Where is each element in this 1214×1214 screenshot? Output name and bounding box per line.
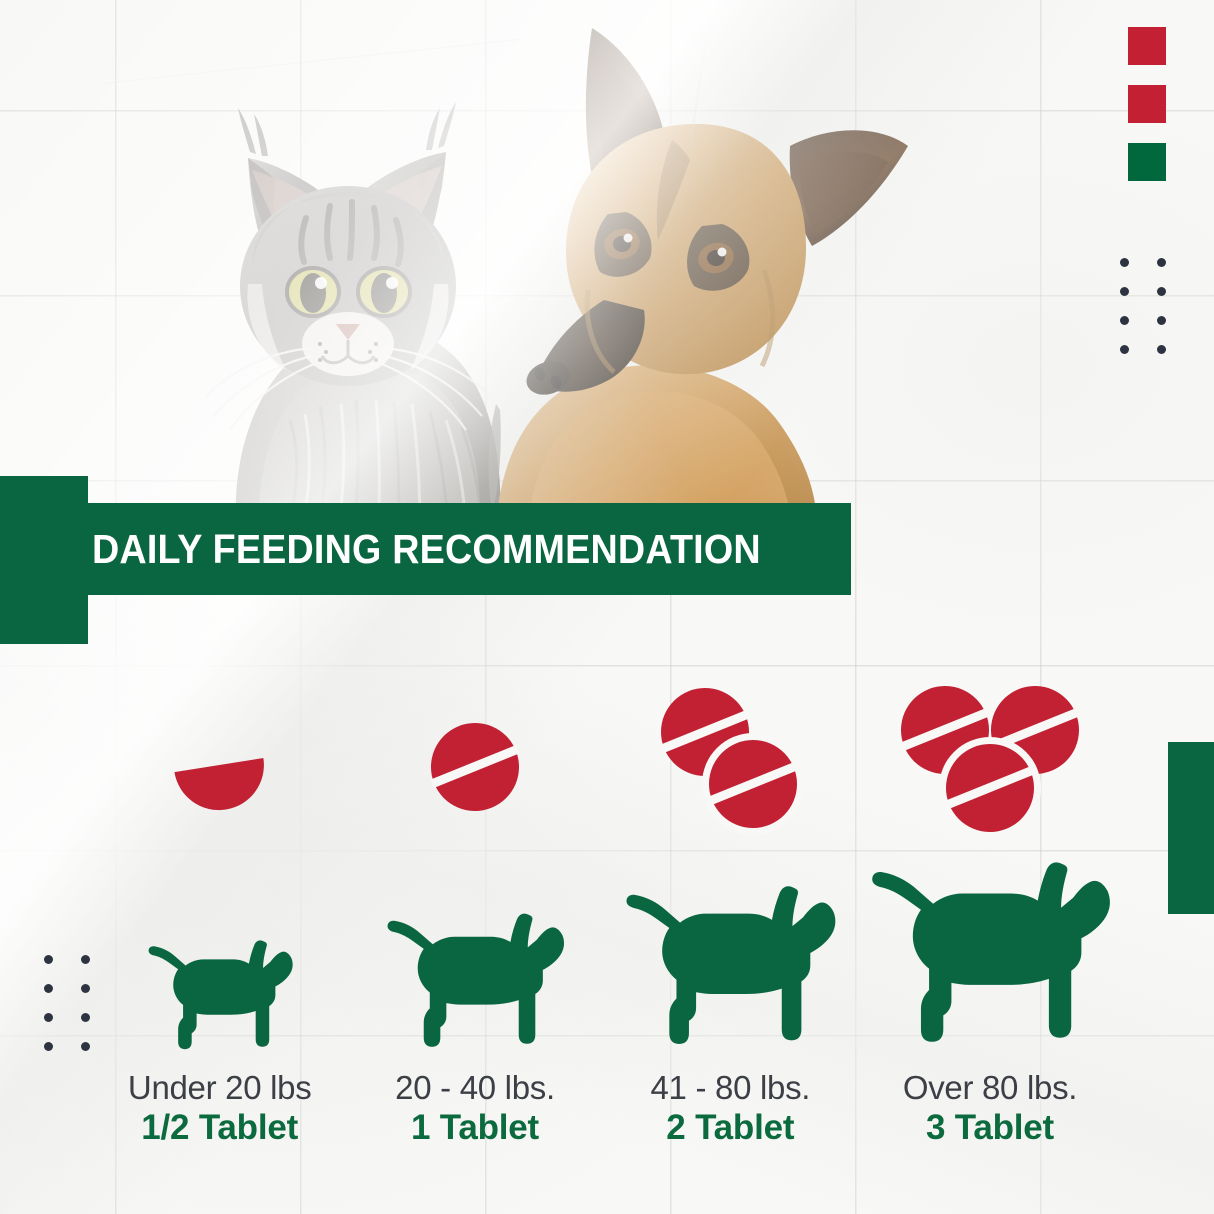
weight-label: 41 - 80 lbs. xyxy=(603,1070,858,1107)
decor-dot xyxy=(81,1042,90,1051)
decor-dot xyxy=(1120,345,1129,354)
infographic-canvas: DAILY FEEDING RECOMMENDATION Under 20 lb… xyxy=(0,0,1214,1214)
decor-dot xyxy=(44,1013,53,1022)
dose-label: 3 Tablet xyxy=(858,1107,1122,1148)
weight-label: Under 20 lbs xyxy=(92,1070,347,1107)
dog-silhouette-area xyxy=(603,852,858,1060)
decor-dot-grid-bottom-left xyxy=(44,955,90,1051)
decor-right-green-bar xyxy=(1168,742,1214,914)
dosage-column: Under 20 lbs 1/2 Tablet xyxy=(92,636,347,1148)
title-banner: DAILY FEEDING RECOMMENDATION xyxy=(58,503,851,595)
decor-square-stack xyxy=(1128,27,1166,201)
dose-label: 2 Tablet xyxy=(603,1107,858,1148)
pill-illustration-area xyxy=(603,662,858,852)
decor-dot xyxy=(81,984,90,993)
decor-dot xyxy=(44,1042,53,1051)
dog-silhouette-area xyxy=(858,852,1122,1060)
pill-illustration-area xyxy=(347,662,602,852)
dosage-column: 41 - 80 lbs. 2 Tablet xyxy=(603,636,858,1148)
cat-photo xyxy=(206,102,501,530)
dosage-label-area: 41 - 80 lbs. 2 Tablet xyxy=(603,1060,858,1148)
dog-silhouette-icon xyxy=(377,907,573,1060)
pill-illustration-area xyxy=(858,662,1122,852)
dog-silhouette-icon xyxy=(858,853,1122,1060)
decor-dot xyxy=(1157,258,1166,267)
pet-photo-group xyxy=(0,0,1214,530)
two-tablet-icon xyxy=(601,662,859,852)
dog-silhouette-icon xyxy=(140,935,300,1060)
decor-dot xyxy=(1120,287,1129,296)
dose-label: 1 Tablet xyxy=(347,1107,602,1148)
decor-dot xyxy=(1120,258,1129,267)
decor-dot xyxy=(81,955,90,964)
weight-label: Over 80 lbs. xyxy=(858,1070,1122,1107)
pet-photos-illustration xyxy=(0,0,1214,530)
dosage-label-area: 20 - 40 lbs. 1 Tablet xyxy=(347,1060,602,1148)
decor-dot xyxy=(1157,345,1166,354)
dosage-column: Over 80 lbs. 3 Tablet xyxy=(858,636,1122,1148)
weight-label: 20 - 40 lbs. xyxy=(347,1070,602,1107)
pill-illustration-area xyxy=(92,662,347,852)
decor-square-green xyxy=(1128,143,1166,181)
decor-dot xyxy=(44,955,53,964)
decor-dot xyxy=(44,984,53,993)
dose-label: 1/2 Tablet xyxy=(92,1107,347,1148)
dosage-chart: Under 20 lbs 1/2 Tablet 20 - 40 xyxy=(92,636,1122,1148)
decor-square-red-2 xyxy=(1128,85,1166,123)
decor-dot xyxy=(1157,287,1166,296)
decor-dot xyxy=(1157,316,1166,325)
dog-silhouette-area xyxy=(92,852,347,1060)
dog-silhouette-icon xyxy=(614,878,846,1060)
decor-dot-grid-top-right xyxy=(1120,258,1166,354)
three-tablet-icon xyxy=(861,662,1119,852)
decor-dot xyxy=(81,1013,90,1022)
half-tablet-icon xyxy=(91,662,349,852)
dosage-column: 20 - 40 lbs. 1 Tablet xyxy=(347,636,602,1148)
dosage-label-area: Under 20 lbs 1/2 Tablet xyxy=(92,1060,347,1148)
decor-dot xyxy=(1120,316,1129,325)
dog-silhouette-area xyxy=(347,852,602,1060)
page-title: DAILY FEEDING RECOMMENDATION xyxy=(92,526,761,573)
dosage-label-area: Over 80 lbs. 3 Tablet xyxy=(858,1060,1122,1148)
dog-photo xyxy=(489,28,908,530)
decor-square-red-1 xyxy=(1128,27,1166,65)
one-tablet-icon xyxy=(346,662,604,852)
